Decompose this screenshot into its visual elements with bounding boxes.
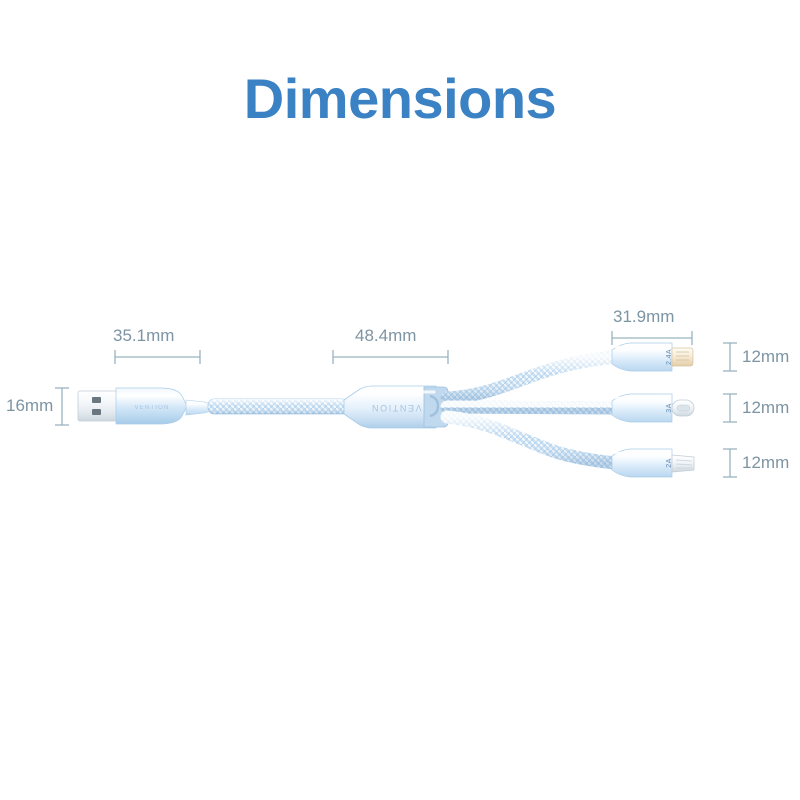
dimension-label-micro-usb-height: 12mm <box>742 453 789 473</box>
dimension-line-hub-length <box>333 350 448 364</box>
dimension-line-usb-c-height <box>723 394 737 422</box>
dimension-line-usb-a-length <box>115 350 200 364</box>
micro-usb-tip <box>672 455 694 472</box>
dimension-line-micro-usb-height <box>723 449 737 477</box>
lightning-tip <box>672 348 693 366</box>
branch-cable-usb-c-shading <box>447 407 615 408</box>
usb-a-brand-text: VENTION <box>134 405 169 411</box>
dimension-line-usb-a-height <box>55 388 69 425</box>
usb-c-tip-inner <box>677 405 690 411</box>
hub-brand-text: VENTION <box>370 403 421 413</box>
branch-cable-micro-usb-shading <box>447 417 615 463</box>
branch-cables <box>447 357 615 463</box>
usb-a-metal-tip <box>78 391 118 421</box>
dimensions-diagram: Dimensions <box>0 0 800 800</box>
micro-usb-highlight <box>616 452 668 453</box>
lightning-highlight <box>616 346 668 347</box>
svg-text:VENTION: VENTION <box>370 403 421 413</box>
dimension-label-lightning-height: 12mm <box>742 347 789 367</box>
usb-a-connector: VENTION <box>78 388 210 424</box>
product-illustration: VENTION VENTION <box>0 0 800 800</box>
dimension-label-usb-a-height: 16mm <box>6 396 53 416</box>
dimension-label-hub-length: 48.4mm <box>355 326 416 346</box>
usb-a-contact-bottom <box>92 409 101 415</box>
usb-c-highlight <box>616 397 668 398</box>
lightning-connector: 2.4A <box>612 343 693 371</box>
splitter-hub: VENTION <box>344 386 448 428</box>
main-cable-shading <box>208 399 348 414</box>
dimension-label-usb-c-height: 12mm <box>742 398 789 418</box>
usb-a-contact-top <box>92 397 101 403</box>
usb-a-strain-relief <box>186 400 210 415</box>
micro-usb-connector: 2A <box>612 449 694 477</box>
dimension-line-lightning-height <box>723 343 737 371</box>
dimension-label-usb-a-length: 35.1mm <box>113 326 174 346</box>
usb-c-connector: 3A <box>612 394 694 422</box>
branch-cable-lightning-shading <box>447 357 615 398</box>
main-cable <box>208 399 348 414</box>
dimension-label-lightning-length: 31.9mm <box>613 307 674 327</box>
